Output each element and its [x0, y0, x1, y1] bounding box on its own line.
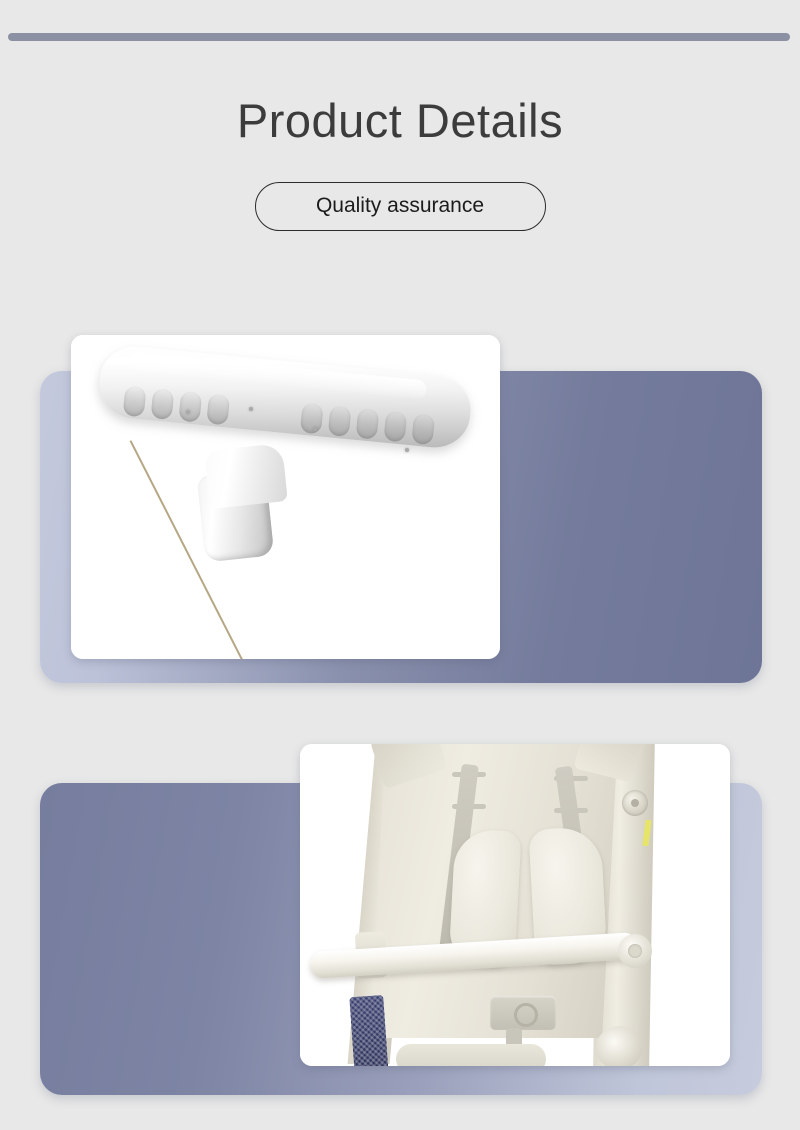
push-rod-photo — [71, 335, 500, 659]
page-title: Product Details — [0, 95, 800, 147]
screw-dot-icon — [313, 427, 317, 431]
top-divider-bar — [8, 33, 790, 41]
stroller-seat-photo — [300, 744, 730, 1066]
quality-assurance-badge[interactable]: Quality assurance — [255, 182, 546, 231]
bumper-end-cap-shape — [618, 934, 652, 968]
push-rod-illustration — [71, 335, 500, 659]
badge-container: Quality assurance — [0, 182, 800, 231]
screw-dot-icon — [186, 410, 190, 414]
screw-dot-icon — [249, 407, 253, 411]
hinge-screw-icon — [631, 799, 639, 807]
rod-collar-top-shape — [204, 443, 288, 509]
stroller-seat-illustration — [300, 744, 730, 1066]
wheel-hub-shape — [596, 1026, 642, 1066]
safety-buckle-shape — [490, 996, 556, 1030]
navy-mesh-panel — [349, 995, 388, 1066]
screw-dot-icon — [405, 448, 409, 452]
footrest-shape — [396, 1044, 546, 1066]
product-details-page: Product Details Quality assurance Comfor… — [0, 0, 800, 1130]
